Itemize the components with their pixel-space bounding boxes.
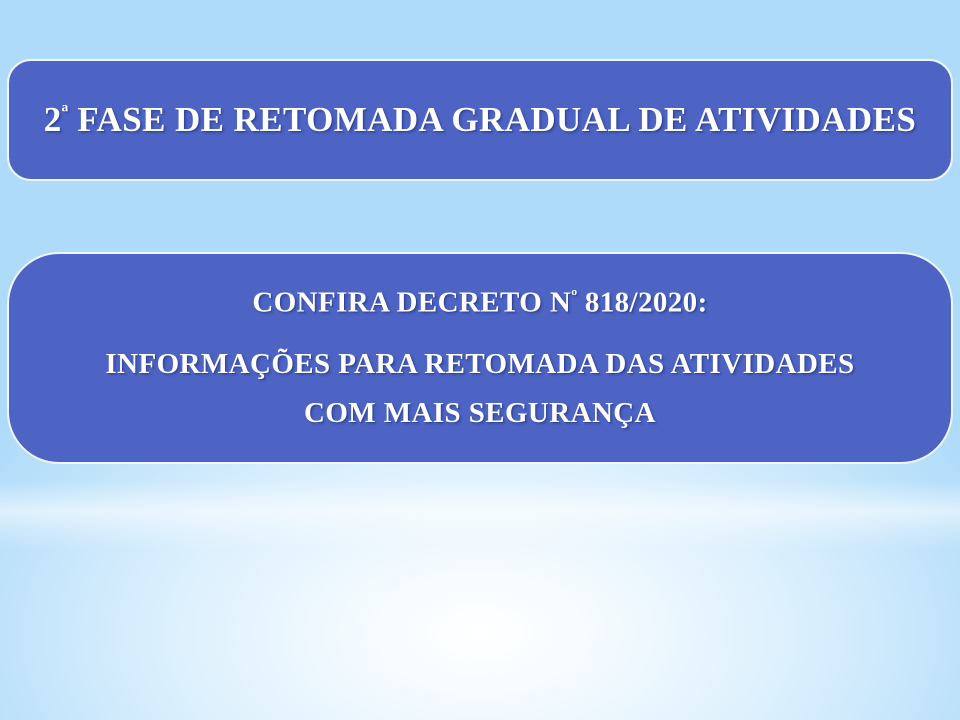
phase-heading-text: 2ª FASE DE RETOMADA GRADUAL DE ATIVIDADE… — [44, 101, 916, 139]
phase-title-box: 2ª FASE DE RETOMADA GRADUAL DE ATIVIDADE… — [7, 59, 953, 181]
decree-info-box: CONFIRA DECRETO Nº 818/2020: INFORMAÇÕES… — [7, 252, 953, 464]
decree-reference-number: 818/2020: — [577, 286, 707, 318]
phase-heading-number: 2 — [44, 100, 62, 139]
decree-description-line-1: INFORMAÇÕES PARA RETOMADA DAS ATIVIDADES — [105, 349, 854, 380]
phase-heading-rest: FASE DE RETOMADA GRADUAL DE ATIVIDADES — [68, 100, 916, 139]
decree-reference-text: CONFIRA DECRETO Nº 818/2020: — [252, 287, 707, 319]
presentation-slide: 2ª FASE DE RETOMADA GRADUAL DE ATIVIDADE… — [0, 0, 960, 720]
decree-reference-prefix: CONFIRA DECRETO N — [252, 286, 571, 318]
decree-description-line-2: COM MAIS SEGURANÇA — [304, 398, 656, 429]
